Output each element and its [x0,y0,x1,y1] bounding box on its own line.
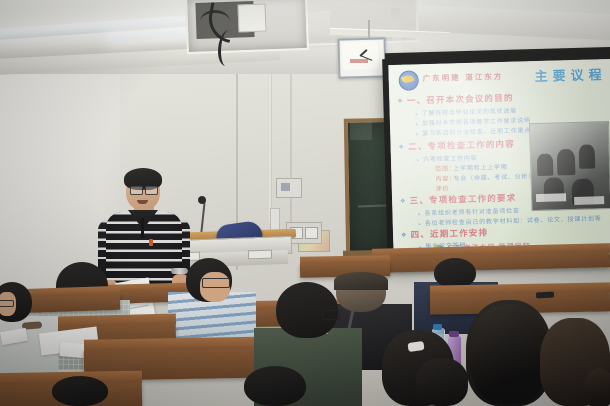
woman-ponytail [584,368,610,406]
projector-device [238,4,267,33]
clock-brand-mark [350,59,368,63]
wall-seam [290,60,292,240]
blackboard-glare [350,122,372,140]
screen-glare [388,59,610,261]
student-foreground-right-head [416,358,468,406]
projection-screen: 广东明建 湛江东方 主要议程 一、召开本次会议的目的 了解在校与毕业论文的现状进… [388,59,610,261]
wall-conduit-pipe [268,72,272,222]
classroom-photo: 广东明建 湛江东方 主要议程 一、召开本次会议的目的 了解在校与毕业论文的现状进… [0,0,610,406]
glasses-icon [145,186,158,195]
man-balding-hair [334,272,388,290]
glasses-bridge [141,189,145,190]
man-navy-suit-head [434,258,476,288]
water-bottle-purple-cap [449,331,459,337]
presenter-shirt-placket [141,218,144,238]
woman-long-dark-hair [470,304,548,404]
glasses-icon [130,186,143,195]
water-bottle-blue-cap [433,324,442,330]
clock-hook [368,20,370,38]
student-foreground-center-head [244,366,306,406]
wall-outlet-socket[interactable] [305,227,318,239]
lectern-control-panel[interactable] [248,250,272,260]
glasses-icon [202,278,230,288]
presenter-shirt-logo [149,239,153,246]
cable-icon [218,30,237,66]
phone-on-desk[interactable] [536,292,554,299]
microphone-icon [198,196,206,204]
student-foreground-left-head [52,376,108,406]
wall-switch[interactable] [281,183,290,191]
glasses-icon [322,310,340,320]
glasses-icon [0,300,14,307]
